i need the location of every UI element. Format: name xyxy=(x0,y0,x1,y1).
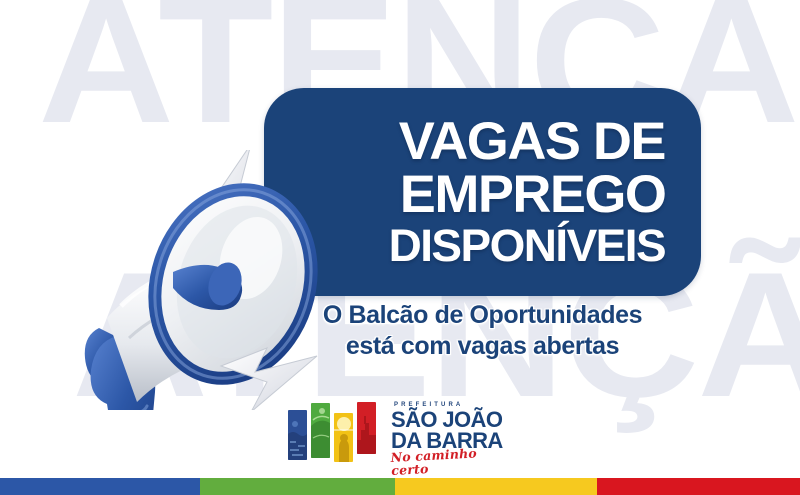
headline-text-group: VAGAS DE EMPREGO DISPONÍVEIS xyxy=(264,88,701,296)
headline-line-2: EMPREGO xyxy=(399,170,665,221)
headline-line-3: DISPONÍVEIS xyxy=(389,224,665,267)
job-vacancy-poster: ATENÇÃO ATENÇÃO xyxy=(0,0,800,495)
city-logo-text: PREFEITURA SÃO JOÃO DA BARRA No caminho … xyxy=(391,402,511,477)
bottom-bar-segment-yellow xyxy=(395,478,597,495)
emblem-panel-green xyxy=(311,403,330,458)
bottom-bar-segment-green xyxy=(200,478,395,495)
emblem-panel-yellow xyxy=(334,413,353,462)
bottom-color-bar xyxy=(0,478,800,495)
bottom-bar-segment-red xyxy=(597,478,800,495)
logo-city-line-1: SÃO JOÃO xyxy=(391,409,511,430)
emblem-panel-blue xyxy=(288,410,307,460)
headline-line-1: VAGAS DE xyxy=(399,117,665,168)
subtitle-line-2: está com vagas abertas xyxy=(260,331,705,362)
city-logo: PREFEITURA SÃO JOÃO DA BARRA No caminho … xyxy=(286,400,511,468)
city-emblem-icon xyxy=(286,400,384,462)
emblem-panel-red xyxy=(357,402,376,454)
bottom-bar-segment-blue xyxy=(0,478,200,495)
logo-tagline: No caminho certo xyxy=(390,446,511,477)
subtitle-text-group: O Balcão de Oportunidades está com vagas… xyxy=(260,300,705,361)
subtitle-line-1: O Balcão de Oportunidades xyxy=(260,300,705,331)
